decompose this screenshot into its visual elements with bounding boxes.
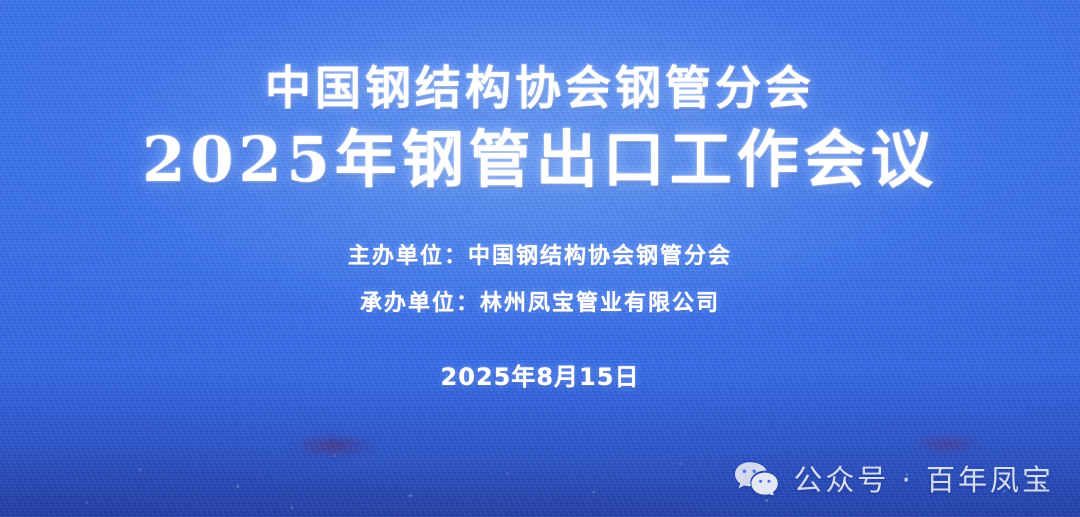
event-date: 2025年8月15日 [441,357,640,392]
banner-title-block: 中国钢结构协会钢管分会 2025年钢管出口工作会议 [0,64,1080,194]
wechat-watermark: 公众号 · 百年凤宝 [734,457,1054,499]
banner-content: 中国钢结构协会钢管分会 2025年钢管出口工作会议 主办单位：中国钢结构协会钢管… [0,0,1080,517]
watermark-label: 公众号 · 百年凤宝 [793,457,1054,499]
banner-title-line-1: 中国钢结构协会钢管分会 [0,64,1080,113]
co-organizer-line: 承办单位：林州凤宝管业有限公司 [0,293,1080,315]
conference-banner-screen: 中国钢结构协会钢管分会 2025年钢管出口工作会议 主办单位：中国钢结构协会钢管… [0,0,1080,517]
banner-title-line-2: 2025年钢管出口工作会议 [0,125,1080,194]
wechat-icon [734,461,780,495]
organizer-block: 主办单位：中国钢结构协会钢管分会 承办单位：林州凤宝管业有限公司 [0,246,1080,315]
host-organization-line: 主办单位：中国钢结构协会钢管分会 [0,246,1080,268]
